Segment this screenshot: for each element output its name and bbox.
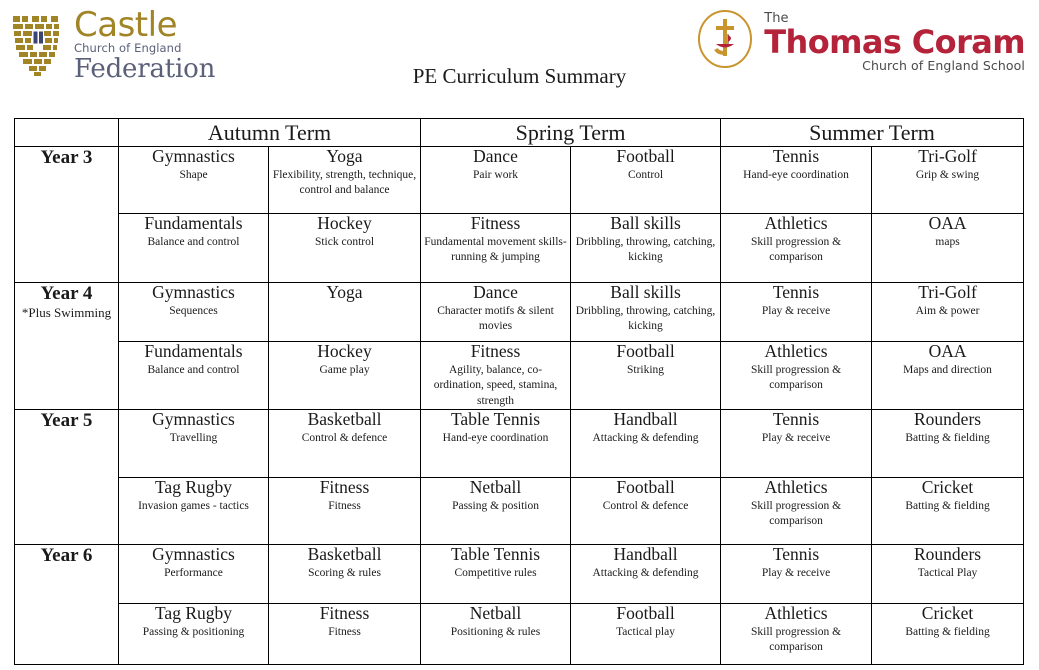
activity-cell: Fitness Agility, balance, co-ordination,…: [421, 342, 571, 410]
activity-cell: Handball Attacking & defending: [571, 409, 721, 477]
activity-cell: Tag Rugby Invasion games - tactics: [119, 477, 269, 544]
year-name: Year 4: [15, 283, 118, 305]
activity-detail: Batting & fielding: [872, 431, 1023, 446]
activity-cell: Fundamentals Balance and control: [119, 214, 269, 283]
activity-cell: Handball Attacking & defending: [571, 544, 721, 603]
activity-name: Dance: [421, 147, 570, 166]
activity-name: Table Tennis: [421, 410, 570, 429]
activity-detail: Attacking & defending: [571, 431, 720, 446]
activity-cell: Rounders Batting & fielding: [872, 409, 1024, 477]
activity-cell: Ball skills Dribbling, throwing, catchin…: [571, 214, 721, 283]
activity-detail: Character motifs & silent movies: [421, 304, 570, 334]
table-row: Year 3 Gymnastics Shape Yoga Flexibility…: [15, 147, 1024, 214]
term-header-spring: Spring Term: [421, 119, 721, 147]
activity-cell: Athletics Skill progression & comparison: [721, 603, 872, 664]
activity-detail: Play & receive: [721, 566, 871, 581]
activity-cell: Table Tennis Hand-eye coordination: [421, 409, 571, 477]
activity-cell: Basketball Scoring & rules: [269, 544, 421, 603]
table-body: Year 3 Gymnastics Shape Yoga Flexibility…: [15, 147, 1024, 665]
activity-cell: Hockey Stick control: [269, 214, 421, 283]
activity-cell: OAA Maps and direction: [872, 342, 1024, 410]
activity-name: Tag Rugby: [119, 604, 268, 623]
year-name: Year 5: [15, 410, 118, 432]
activity-detail: Pair work: [421, 168, 570, 183]
activity-name: Netball: [421, 478, 570, 497]
pe-curriculum-table: Autumn Term Spring Term Summer Term Year…: [14, 118, 1024, 665]
activity-detail: Batting & fielding: [872, 625, 1023, 640]
activity-detail: Skill progression & comparison: [721, 235, 871, 265]
activity-name: OAA: [872, 342, 1023, 361]
activity-cell: Athletics Skill progression & comparison: [721, 477, 872, 544]
activity-detail: Batting & fielding: [872, 499, 1023, 514]
activity-name: Football: [571, 604, 720, 623]
activity-cell: Table Tennis Competitive rules: [421, 544, 571, 603]
activity-detail: Flexibility, strength, technique, contro…: [269, 168, 420, 198]
activity-name: Athletics: [721, 478, 871, 497]
activity-detail: Fundamental movement skills- running & j…: [421, 235, 570, 265]
activity-name: Hockey: [269, 342, 420, 361]
activity-name: Yoga: [269, 283, 420, 302]
activity-name: Gymnastics: [119, 283, 268, 302]
activity-detail: Travelling: [119, 431, 268, 446]
activity-name: Fundamentals: [119, 342, 268, 361]
activity-name: Handball: [571, 410, 720, 429]
activity-cell: Fundamentals Balance and control: [119, 342, 269, 410]
activity-name: OAA: [872, 214, 1023, 233]
activity-cell: Football Tactical play: [571, 603, 721, 664]
activity-name: Handball: [571, 545, 720, 564]
activity-cell: Tennis Play & receive: [721, 283, 872, 342]
activity-cell: Yoga Flexibility, strength, technique, c…: [269, 147, 421, 214]
table-row: Tag Rugby Invasion games - tactics Fitne…: [15, 477, 1024, 544]
activity-cell: Football Control & defence: [571, 477, 721, 544]
activity-detail: Control & defence: [571, 499, 720, 514]
activity-detail: Dribbling, throwing, catching, kicking: [571, 235, 720, 265]
table-row: Year 4 *Plus Swimming Gymnastics Sequenc…: [15, 283, 1024, 342]
year-label-cell-3: Year 3: [15, 147, 119, 283]
activity-cell: Cricket Batting & fielding: [872, 477, 1024, 544]
activity-name: Netball: [421, 604, 570, 623]
activity-cell: Tag Rugby Passing & positioning: [119, 603, 269, 664]
thomas-coram-logo: The Thomas Coram Church of England Schoo…: [696, 8, 1025, 73]
term-header-autumn: Autumn Term: [119, 119, 421, 147]
activity-detail: Control & defence: [269, 431, 420, 446]
activity-name: Fitness: [421, 214, 570, 233]
table-row: Year 5 Gymnastics Travelling Basketball …: [15, 409, 1024, 477]
activity-name: Ball skills: [571, 214, 720, 233]
table-row: Year 6 Gymnastics Performance Basketball…: [15, 544, 1024, 603]
activity-cell: Dance Character motifs & silent movies: [421, 283, 571, 342]
activity-cell: Tri-Golf Aim & power: [872, 283, 1024, 342]
activity-name: Cricket: [872, 604, 1023, 623]
table-row: Fundamentals Balance and control Hockey …: [15, 342, 1024, 410]
activity-detail: Skill progression & comparison: [721, 363, 871, 393]
year-name: Year 3: [15, 147, 118, 169]
activity-name: Football: [571, 342, 720, 361]
activity-cell: Gymnastics Sequences: [119, 283, 269, 342]
activity-cell: Ball skills Dribbling, throwing, catchin…: [571, 283, 721, 342]
activity-detail: Fitness: [269, 499, 420, 514]
activity-detail: Positioning & rules: [421, 625, 570, 640]
activity-name: Rounders: [872, 545, 1023, 564]
activity-cell: Tennis Play & receive: [721, 409, 872, 477]
activity-cell: Fitness Fitness: [269, 603, 421, 664]
activity-cell: Tri-Golf Grip & swing: [872, 147, 1024, 214]
activity-detail: Dribbling, throwing, catching, kicking: [571, 304, 720, 334]
activity-detail: Tactical Play: [872, 566, 1023, 581]
page-title: PE Curriculum Summary: [0, 64, 1039, 89]
activity-detail: Grip & swing: [872, 168, 1023, 183]
activity-cell: Yoga: [269, 283, 421, 342]
castle-logo-name: Castle: [74, 8, 215, 42]
activity-detail: Agility, balance, co-ordination, speed, …: [421, 363, 570, 409]
activity-name: Tennis: [721, 147, 871, 166]
activity-cell: Hockey Game play: [269, 342, 421, 410]
activity-detail: Fitness: [269, 625, 420, 640]
activity-cell: Football Striking: [571, 342, 721, 410]
activity-detail: Shape: [119, 168, 268, 183]
activity-name: Fitness: [421, 342, 570, 361]
coram-logo-name: Thomas Coram: [764, 26, 1025, 58]
activity-name: Tri-Golf: [872, 147, 1023, 166]
activity-cell: Tennis Hand-eye coordination: [721, 147, 872, 214]
activity-detail: Hand-eye coordination: [421, 431, 570, 446]
activity-name: Gymnastics: [119, 410, 268, 429]
activity-detail: Stick control: [269, 235, 420, 250]
year-label-cell-5: Year 5: [15, 409, 119, 544]
activity-detail: maps: [872, 235, 1023, 250]
activity-detail: Scoring & rules: [269, 566, 420, 581]
activity-detail: Tactical play: [571, 625, 720, 640]
activity-name: Tennis: [721, 283, 871, 302]
activity-name: Fitness: [269, 604, 420, 623]
activity-name: Cricket: [872, 478, 1023, 497]
activity-name: Basketball: [269, 410, 420, 429]
activity-cell: Netball Positioning & rules: [421, 603, 571, 664]
activity-detail: Striking: [571, 363, 720, 378]
table-corner-cell: [15, 119, 119, 147]
activity-name: Tennis: [721, 410, 871, 429]
year-name: Year 6: [15, 545, 118, 567]
activity-detail: Skill progression & comparison: [721, 499, 871, 529]
activity-detail: Skill progression & comparison: [721, 625, 871, 655]
activity-cell: Athletics Skill progression & comparison: [721, 214, 872, 283]
year-label-cell-6: Year 6: [15, 544, 119, 664]
activity-detail: Performance: [119, 566, 268, 581]
activity-cell: Fitness Fundamental movement skills- run…: [421, 214, 571, 283]
activity-detail: Play & receive: [721, 304, 871, 319]
table-row: Tag Rugby Passing & positioning Fitness …: [15, 603, 1024, 664]
activity-cell: Rounders Tactical Play: [872, 544, 1024, 603]
activity-cell: Fitness Fitness: [269, 477, 421, 544]
activity-name: Football: [571, 478, 720, 497]
activity-name: Tennis: [721, 545, 871, 564]
activity-detail: Play & receive: [721, 431, 871, 446]
activity-name: Tri-Golf: [872, 283, 1023, 302]
activity-cell: Netball Passing & position: [421, 477, 571, 544]
activity-detail: Maps and direction: [872, 363, 1023, 378]
activity-detail: Aim & power: [872, 304, 1023, 319]
activity-detail: Game play: [269, 363, 420, 378]
activity-detail: Competitive rules: [421, 566, 570, 581]
activity-name: Athletics: [721, 342, 871, 361]
activity-name: Fitness: [269, 478, 420, 497]
activity-cell: Cricket Batting & fielding: [872, 603, 1024, 664]
year-note: *Plus Swimming: [15, 306, 118, 321]
activity-cell: Gymnastics Travelling: [119, 409, 269, 477]
term-header-summer: Summer Term: [721, 119, 1024, 147]
activity-cell: Tennis Play & receive: [721, 544, 872, 603]
activity-detail: Sequences: [119, 304, 268, 319]
activity-detail: Balance and control: [119, 363, 268, 378]
activity-cell: Basketball Control & defence: [269, 409, 421, 477]
year-label-cell-4: Year 4 *Plus Swimming: [15, 283, 119, 410]
activity-detail: Control: [571, 168, 720, 183]
activity-cell: Dance Pair work: [421, 147, 571, 214]
activity-name: Football: [571, 147, 720, 166]
activity-name: Dance: [421, 283, 570, 302]
activity-name: Gymnastics: [119, 545, 268, 564]
activity-name: Gymnastics: [119, 147, 268, 166]
page-header: Castle Church of England Federation The …: [0, 0, 1039, 112]
activity-name: Rounders: [872, 410, 1023, 429]
activity-name: Table Tennis: [421, 545, 570, 564]
table-header-row: Autumn Term Spring Term Summer Term: [15, 119, 1024, 147]
activity-name: Athletics: [721, 604, 871, 623]
activity-name: Basketball: [269, 545, 420, 564]
activity-cell: Athletics Skill progression & comparison: [721, 342, 872, 410]
table-row: Fundamentals Balance and control Hockey …: [15, 214, 1024, 283]
activity-name: Athletics: [721, 214, 871, 233]
activity-cell: Gymnastics Shape: [119, 147, 269, 214]
activity-detail: Hand-eye coordination: [721, 168, 871, 183]
activity-cell: Football Control: [571, 147, 721, 214]
coram-crest-icon: [696, 8, 754, 70]
activity-cell: OAA maps: [872, 214, 1024, 283]
activity-detail: Attacking & defending: [571, 566, 720, 581]
activity-detail: Invasion games - tactics: [119, 499, 268, 514]
activity-detail: Balance and control: [119, 235, 268, 250]
activity-name: Ball skills: [571, 283, 720, 302]
activity-detail: Passing & positioning: [119, 625, 268, 640]
page-root: Castle Church of England Federation The …: [0, 0, 1039, 670]
activity-name: Yoga: [269, 147, 420, 166]
activity-name: Fundamentals: [119, 214, 268, 233]
activity-name: Tag Rugby: [119, 478, 268, 497]
castle-logo-subtitle: Church of England: [74, 43, 215, 55]
activity-name: Hockey: [269, 214, 420, 233]
activity-cell: Gymnastics Performance: [119, 544, 269, 603]
activity-detail: Passing & position: [421, 499, 570, 514]
